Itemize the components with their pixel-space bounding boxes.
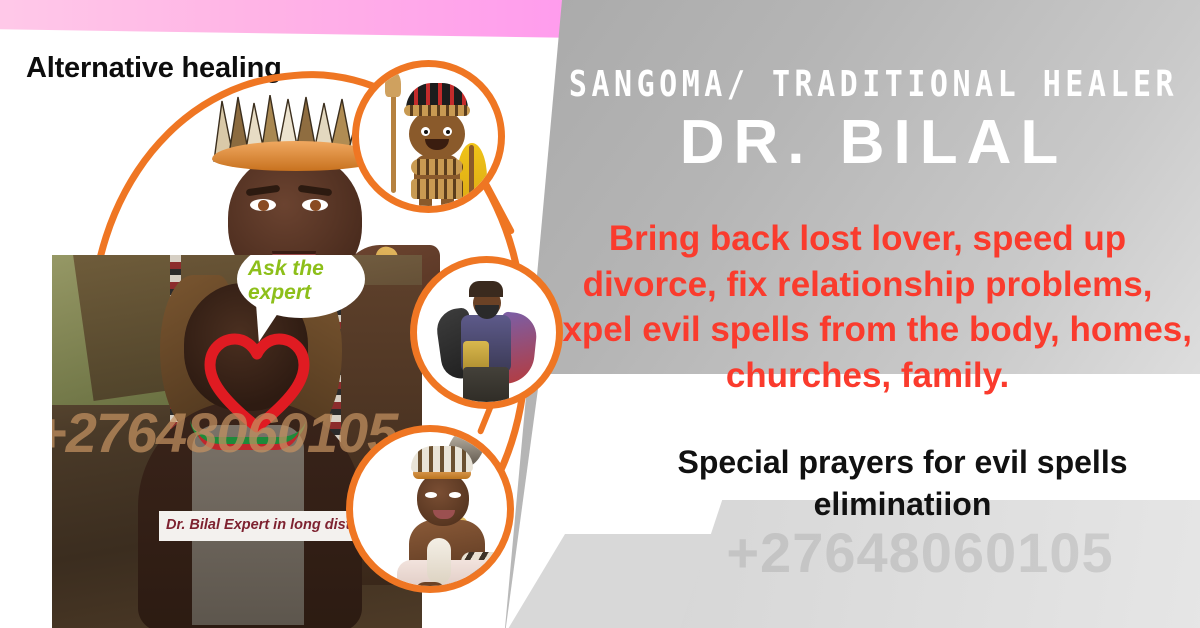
headline-kicker: SANGOMA/ TRADITIONAL HEALER bbox=[566, 64, 1181, 105]
decor-bar-pink bbox=[0, 0, 594, 38]
healer-name-title: DR. BILAL bbox=[566, 110, 1181, 175]
cartoon-chest-fur bbox=[411, 159, 463, 175]
cartoon-spear-tip bbox=[385, 71, 401, 97]
circle-photo-traditional-healer bbox=[410, 256, 563, 409]
dancer-leg bbox=[415, 582, 445, 593]
services-red-text: Bring back lost lover, speed up divorce,… bbox=[540, 216, 1195, 398]
dancer-eye-left bbox=[425, 492, 437, 498]
poster-canvas: +27648060105 SANGOMA/ TRADITIONAL HEALER… bbox=[0, 0, 1200, 628]
dancer-crown bbox=[411, 446, 473, 472]
speech-bubble-text: Ask the expert bbox=[248, 257, 354, 304]
watermark-phone-right: +27648060105 bbox=[640, 520, 1200, 585]
special-prayers-text: Special prayers for evil spells eliminat… bbox=[610, 442, 1195, 525]
cartoon-pupil-left bbox=[424, 130, 428, 134]
healer-pants bbox=[463, 367, 509, 405]
circle-photo-zulu-dancer bbox=[346, 425, 514, 593]
warrior-iris-right bbox=[310, 200, 321, 211]
alternative-healing-heading: Alternative healing bbox=[26, 52, 282, 85]
circle-photo-zulu-warrior-cartoon bbox=[352, 60, 505, 213]
warrior-iris-left bbox=[258, 200, 269, 211]
cartoon-pupil-right bbox=[446, 130, 450, 134]
healer-hat bbox=[469, 281, 503, 297]
cartoon-headband bbox=[404, 105, 470, 116]
cartoon-shield-stick bbox=[469, 145, 474, 211]
cartoon-spear-shaft bbox=[391, 81, 396, 193]
cartoon-skirt bbox=[411, 179, 463, 199]
cartoon-head bbox=[409, 109, 465, 159]
dancer-eye-right bbox=[449, 492, 461, 498]
healer-photo: Ask the expert +27648060105 Dr. Bilal Ex… bbox=[52, 255, 422, 628]
cartoon-leg-left bbox=[419, 197, 432, 213]
dancer-arm-wrap bbox=[427, 538, 451, 584]
